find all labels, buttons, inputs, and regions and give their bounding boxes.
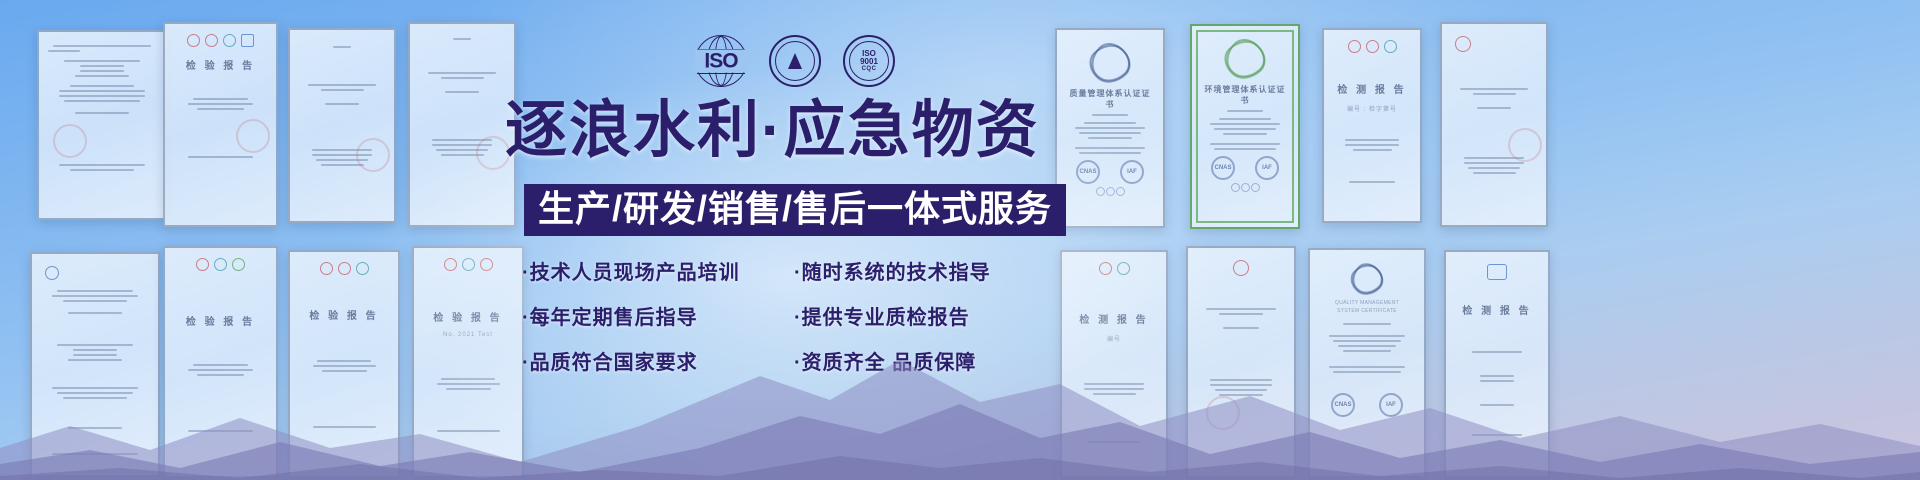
- rings-decoration: [1066, 187, 1154, 196]
- certificate-title: 检 测 报 告: [1071, 311, 1157, 326]
- a-mark-logo-icon: [1099, 262, 1112, 275]
- certificate-logo-row: [1333, 40, 1411, 53]
- iaf-badge-icon: IAF: [1120, 160, 1144, 184]
- subtitle-bar: 生产/研发/销售/售后一体式服务: [524, 184, 1066, 236]
- quality-mark-logo-icon: [1233, 260, 1249, 276]
- certificate-logo-row: [174, 258, 267, 271]
- certificate-card: 检 验 报 告: [163, 22, 278, 227]
- environment-system-atom-icon: [1218, 32, 1272, 86]
- certificate-card: [408, 22, 516, 227]
- quality-system-atom-icon: [1346, 258, 1388, 300]
- certificate-logo-row: [299, 262, 389, 275]
- certificate-card: 检 测 报 告 编号 : 检字第号: [1322, 28, 1422, 223]
- iso-9001-cqc-icon: ISO 9001 CQC: [843, 35, 895, 87]
- cnas-badge-icon: CNAS: [1211, 156, 1235, 180]
- org-logo-icon: [45, 266, 59, 280]
- iaf-badge-icon: IAF: [1255, 156, 1279, 180]
- mountain-silhouette: [0, 330, 1920, 480]
- ccc-logo-icon: [1366, 40, 1379, 53]
- eco-logo-icon: [232, 258, 245, 271]
- cnas-logo-icon: [214, 258, 227, 271]
- a-mark-logo-icon: [205, 34, 218, 47]
- certificate-title: 检 测 报 告: [1455, 302, 1539, 317]
- cnas-logo-icon: [1117, 262, 1130, 275]
- cqc-label: CQC: [862, 66, 877, 72]
- ccc-logo-icon: [196, 258, 209, 271]
- certificate-title: 检 验 报 告: [423, 309, 513, 324]
- certificate-logo-row: [174, 34, 267, 47]
- iso-globe-label: ISO: [695, 50, 747, 73]
- promo-banner: 检 验 报 告 质量管理体系认证证书: [0, 0, 1920, 480]
- certificate-card: [1440, 22, 1548, 227]
- certificate-card: [37, 30, 167, 220]
- cnas-logo-icon: [1384, 40, 1397, 53]
- cnas-logo-icon: [223, 34, 236, 47]
- certificate-logo-row: [423, 258, 513, 271]
- a-mark-logo-icon: [1348, 40, 1361, 53]
- list-item: ·提供专业质检报告: [794, 301, 1062, 330]
- certificate-title: 检 测 报 告: [1333, 81, 1411, 96]
- certificate-card: [288, 28, 396, 223]
- a-mark-logo-icon: [480, 258, 493, 271]
- certificate-title: 质量管理体系认证证书: [1066, 88, 1154, 110]
- iso-globe-icon: ISO: [695, 35, 747, 87]
- certification-marks-row: ISO ISO 9001 CQC: [695, 35, 895, 87]
- rings-decoration: [1201, 183, 1289, 192]
- iso-14000-environment-icon: [769, 35, 821, 87]
- certificate-subtitle: 编号 : 检字第号: [1333, 104, 1411, 113]
- lab-logo-icon: [241, 34, 254, 47]
- list-item: ·技术人员现场产品培训: [522, 256, 794, 285]
- a-mark-logo-icon: [338, 262, 351, 275]
- iso-9001-bottom-label: 9001: [860, 58, 878, 66]
- certificate-title: QUALITY MANAGEMENT SYSTEM CERTIFICATE: [1319, 300, 1415, 315]
- certificate-card: 环境管理体系认证证书 CNAS IAF: [1190, 24, 1300, 229]
- cnas-logo-icon: [462, 258, 475, 271]
- list-item: ·每年定期售后指导: [522, 301, 794, 330]
- ccc-logo-icon: [187, 34, 200, 47]
- cnas-badge-icon: CNAS: [1076, 160, 1100, 184]
- certificate-title: 检 验 报 告: [174, 57, 267, 72]
- ccc-logo-icon: [444, 258, 457, 271]
- page-title: 逐浪水利·应急物资: [505, 100, 1075, 162]
- certificate-title: 检 验 报 告: [174, 313, 267, 328]
- certificate-logo-row: [1071, 262, 1157, 275]
- list-item: ·随时系统的技术指导: [794, 256, 1062, 285]
- ccc-logo-icon: [320, 262, 333, 275]
- certificate-title: 检 验 报 告: [299, 307, 389, 322]
- quality-system-atom-icon: [1083, 36, 1137, 90]
- org-logo-icon: [1487, 264, 1507, 280]
- certificate-title: 环境管理体系认证证书: [1201, 84, 1289, 106]
- quality-mark-logo-icon: [1455, 36, 1471, 52]
- cnas-logo-icon: [356, 262, 369, 275]
- tree-icon: [788, 53, 802, 69]
